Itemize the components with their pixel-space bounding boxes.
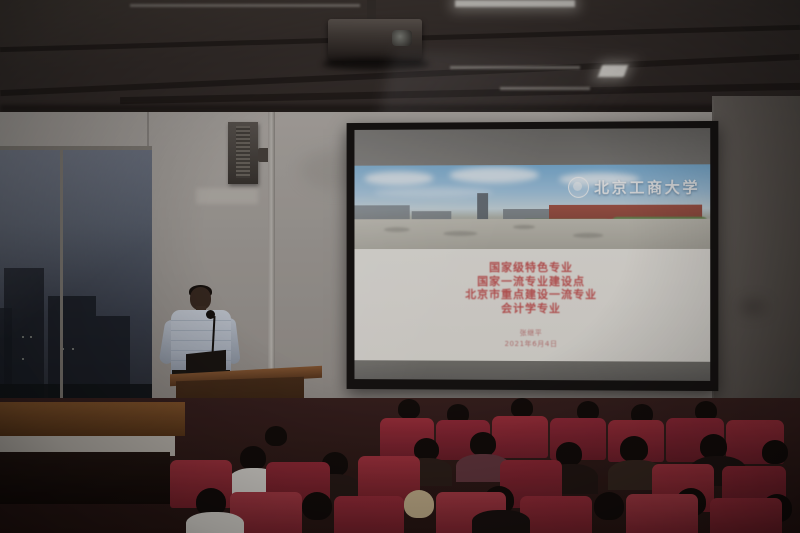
speaker-grill-icon [236,126,250,178]
projector-lens-icon [392,30,412,46]
audience-head [594,492,624,520]
audience-head [302,492,332,520]
theater-seat [334,496,404,533]
window-glare [0,148,152,400]
wall-pipe [268,112,275,412]
screen-surface: 北京工商大学 国家级特色专业 国家一流专业建设点 北京市重点建设一流专业 会计学… [354,128,710,381]
audience-shoulders [186,512,244,533]
window-mullion [60,148,63,400]
audience-head [404,490,434,518]
ceiling-panel-light [455,0,575,7]
audience-shoulders [472,510,530,533]
theater-seat [520,496,592,533]
ceiling-panel-light [598,65,628,77]
ceiling-light-strip [450,66,580,69]
wall-patch [196,188,258,204]
university-logo-text: 北京工商大学 [594,176,700,197]
audience-head [762,440,788,464]
slide-presenter-name: 张继平 [354,328,710,338]
audience-head [398,399,420,419]
audience-head [511,398,533,418]
slide-text-body: 国家级特色专业 国家一流专业建设点 北京市重点建设一流专业 会计学专业 张继平 … [354,249,710,362]
audience-head [265,426,287,446]
theater-seat [710,498,782,533]
slide-headline-2: 国家一流专业建设点 [354,274,710,288]
window-header [0,146,152,150]
audience-head [470,432,496,456]
theater-seat [492,416,548,458]
right-wall [712,96,800,446]
projector-shadow [322,58,430,70]
projection-screen: 北京工商大学 国家级特色专业 国家一流专业建设点 北京市重点建设一流专业 会计学… [347,121,719,391]
front-desk-shadow [0,452,170,504]
slide-header-photo: 北京工商大学 [354,164,710,249]
slide-photo-plaza [354,219,710,249]
front-desk-wood [0,402,185,436]
lecture-hall-photo: 北京工商大学 国家级特色专业 国家一流专业建设点 北京市重点建设一流专业 会计学… [0,0,800,533]
theater-seat [626,494,698,533]
slide-headline-4: 会计学专业 [354,301,710,315]
university-logo: 北京工商大学 [568,176,700,197]
projected-slide: 北京工商大学 国家级特色专业 国家一流专业建设点 北京市重点建设一流专业 会计学… [354,164,710,361]
ceiling-light-strip [500,87,590,90]
ceiling-light-strip [130,4,360,7]
university-seal-icon [568,177,589,198]
slide-headline-1: 国家级特色专业 [354,261,710,275]
wall-mark [740,300,766,314]
slide-headline-3: 北京市重点建设一流专业 [354,288,710,302]
audience-head [620,436,648,462]
slide-date: 2021年6月4日 [354,339,710,349]
audience-head [240,446,266,470]
